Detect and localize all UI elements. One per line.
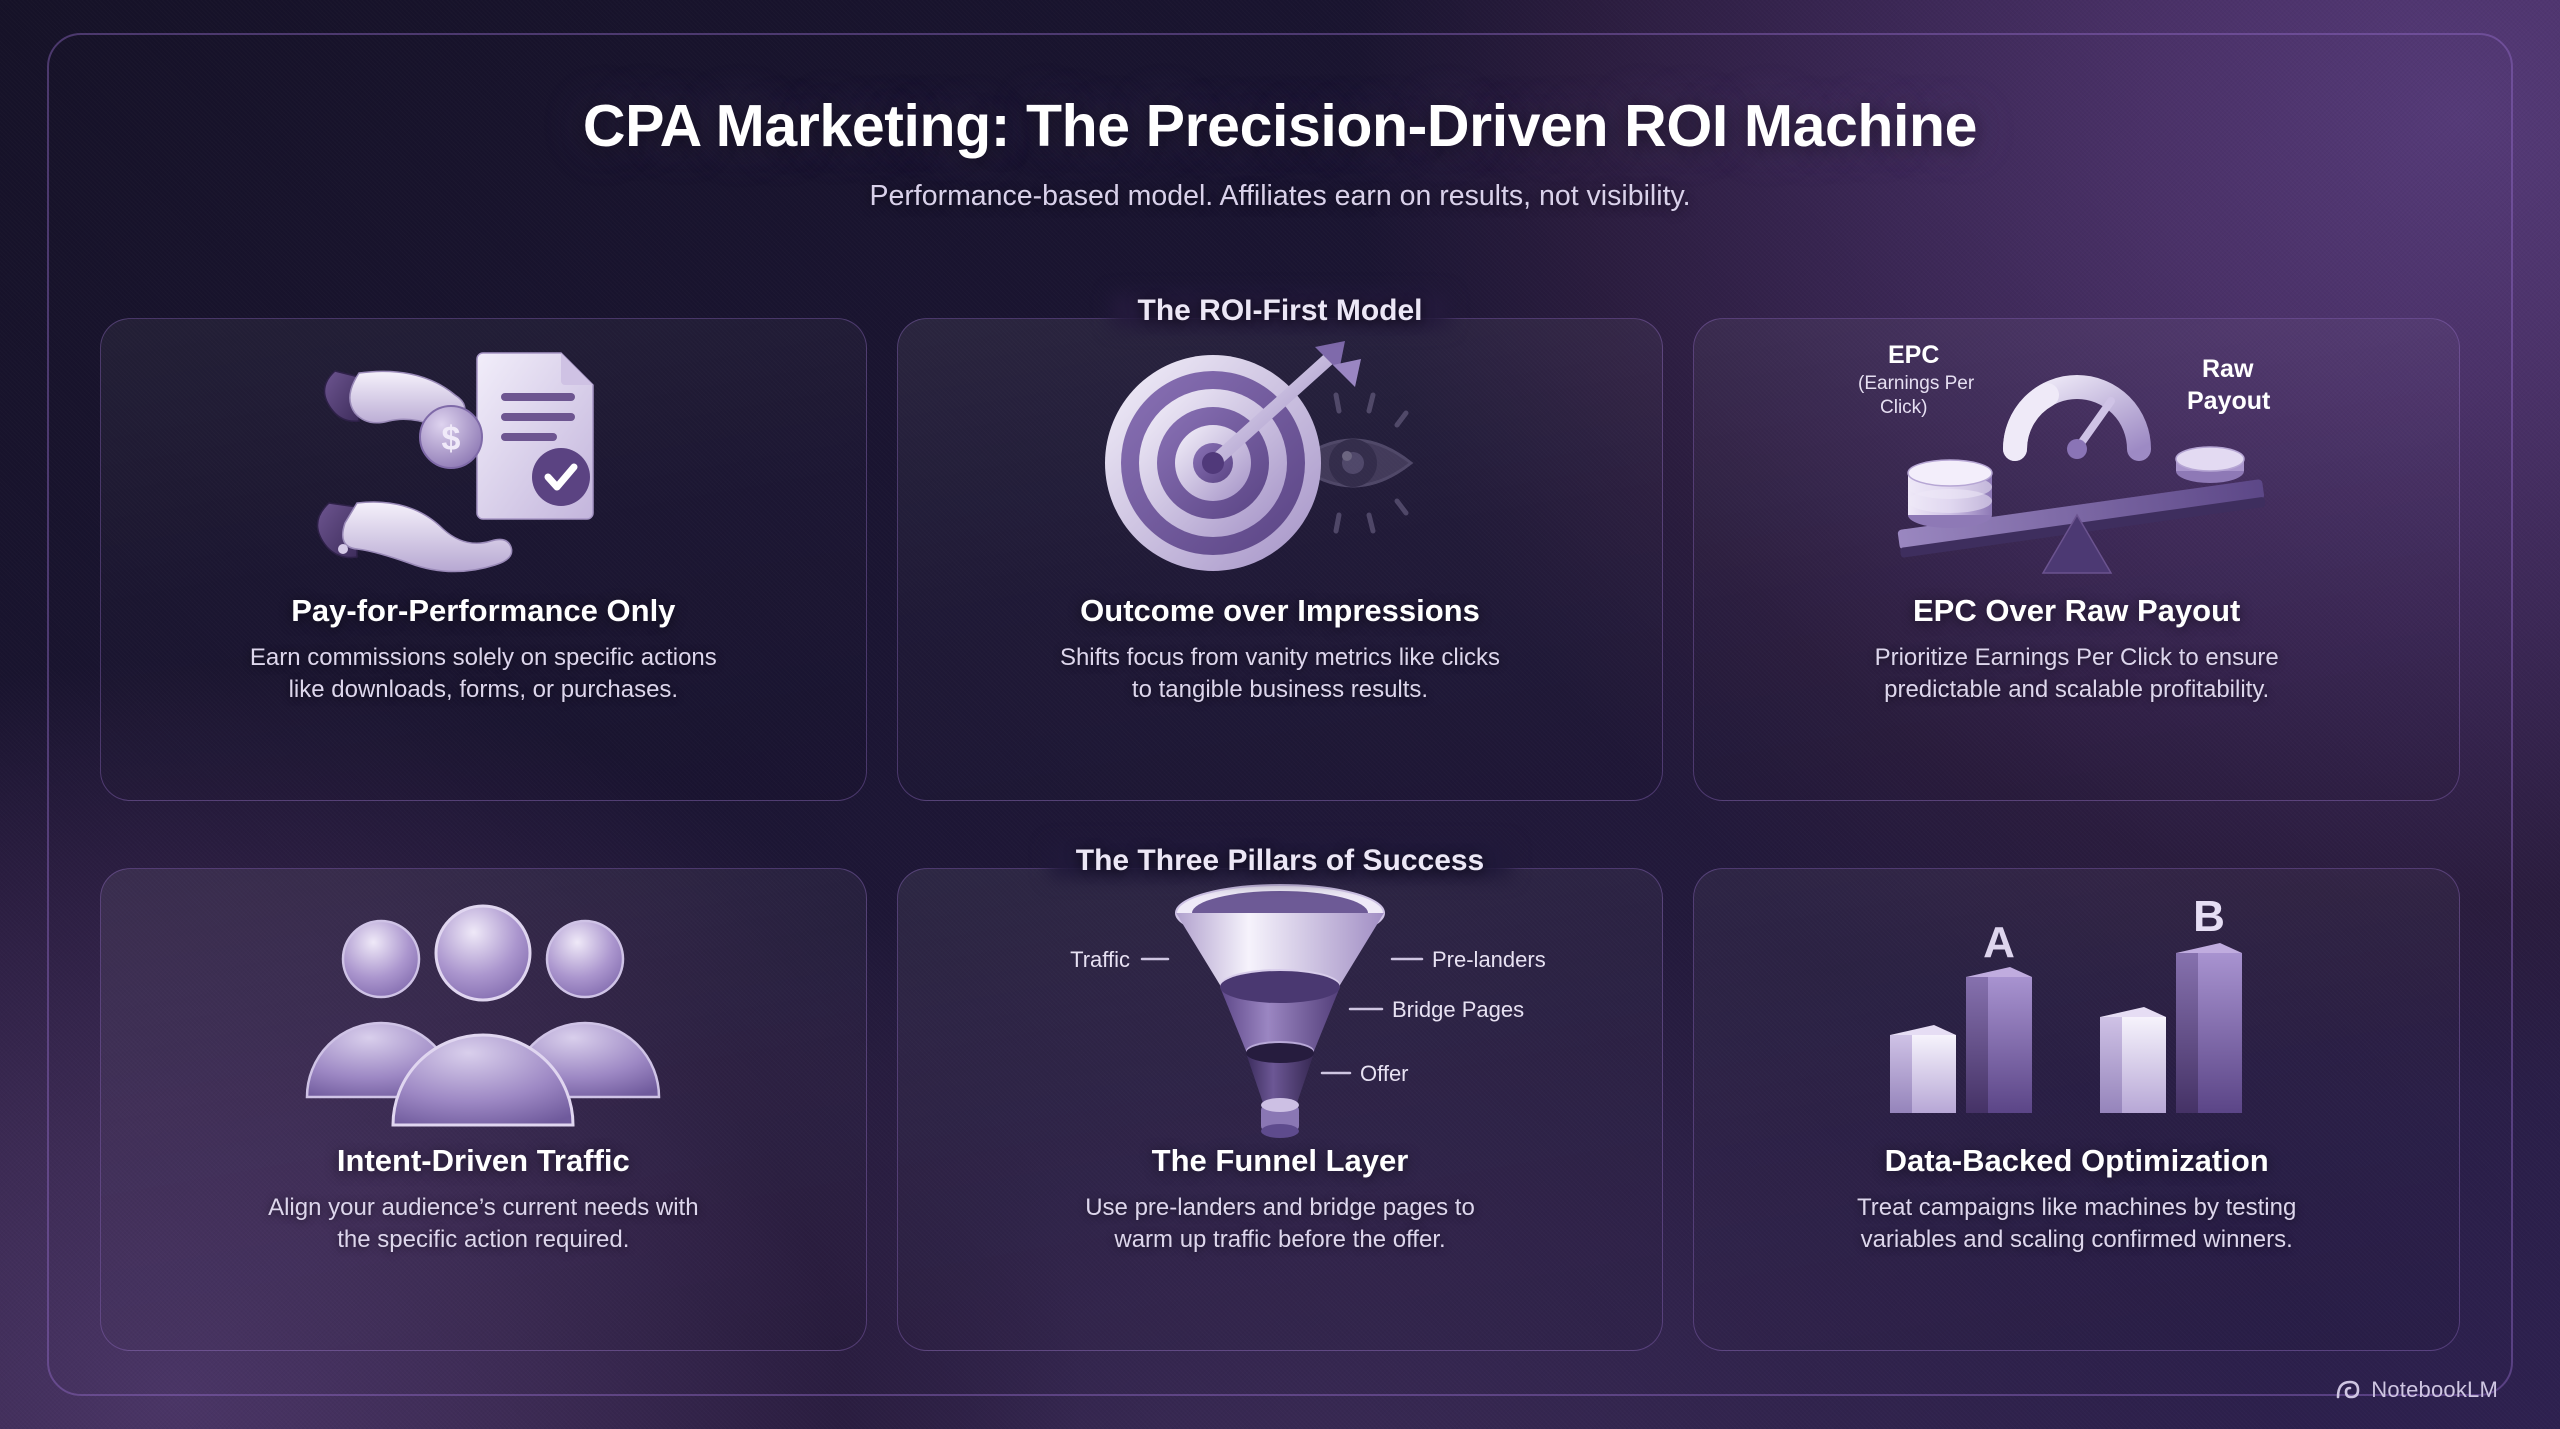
header: CPA Marketing: The Precision-Driven ROI … xyxy=(0,92,2560,213)
funnel-label-offer: Offer xyxy=(1360,1061,1409,1086)
notebooklm-spiral-icon xyxy=(2334,1376,2361,1403)
card-outcome-over-impressions[interactable]: The ROI-First Model xyxy=(897,318,1664,801)
funnel-label-traffic: Traffic xyxy=(1070,947,1130,972)
scale-right-label-1: Raw xyxy=(2202,355,2254,383)
bar-a-control xyxy=(1890,1025,1956,1113)
card-description: Treat campaigns like machines by testing… xyxy=(1857,1192,2296,1255)
bar-label-a: A xyxy=(1983,918,2015,967)
card-description: Prioritize Earnings Per Click to ensure … xyxy=(1875,642,2279,705)
svg-text:$: $ xyxy=(442,420,461,458)
card-description: Use pre-landers and bridge pages to warm… xyxy=(1085,1192,1475,1255)
card-desc-line2: to tangible business results. xyxy=(1060,674,1500,706)
target-arrow-eye-icon xyxy=(898,337,1663,587)
card-intent-driven-traffic[interactable]: Intent-Driven Traffic Align your audienc… xyxy=(100,868,867,1351)
card-title: EPC Over Raw Payout xyxy=(1913,593,2240,629)
section-roi-first-model: $ Pay-for-Performance Only Earn commissi… xyxy=(100,318,2460,801)
card-title: The Funnel Layer xyxy=(1152,1143,1409,1179)
card-desc-line2: variables and scaling confirmed winners. xyxy=(1857,1224,2296,1256)
card-desc-line1: Shifts focus from vanity metrics like cl… xyxy=(1060,642,1500,674)
card-desc-line1: Align your audience’s current needs with xyxy=(268,1192,698,1224)
funnel-icon: Traffic Pre-landers Bridge Pages Offer xyxy=(898,887,1663,1137)
bar-b-variant xyxy=(2176,943,2242,1113)
footer-brand: NotebookLM xyxy=(2334,1376,2498,1403)
hands-exchanging-coin-document-icon: $ xyxy=(101,337,866,587)
funnel-label-bridge-pages: Bridge Pages xyxy=(1392,997,1524,1022)
section-three-pillars: Intent-Driven Traffic Align your audienc… xyxy=(100,868,2460,1351)
page-title: CPA Marketing: The Precision-Driven ROI … xyxy=(0,92,2560,160)
scale-left-label: EPC xyxy=(1888,341,1939,369)
scale-left-sublabel-1: (Earnings Per xyxy=(1858,373,1975,394)
card-title: Pay-for-Performance Only xyxy=(291,593,675,629)
card-data-backed-optimization[interactable]: A B Data-Backed Optimiz xyxy=(1693,868,2460,1351)
bar-a-variant xyxy=(1966,967,2032,1113)
bar-label-b: B xyxy=(2193,892,2225,941)
card-desc-line2: like downloads, forms, or purchases. xyxy=(250,674,717,706)
card-desc-line1: Use pre-landers and bridge pages to xyxy=(1085,1192,1475,1224)
card-desc-line2: warm up traffic before the offer. xyxy=(1085,1224,1475,1256)
card-epc-over-raw-payout[interactable]: EPC (Earnings Per Click) Raw Payout xyxy=(1693,318,2460,801)
card-desc-line2: predictable and scalable profitability. xyxy=(1875,674,2279,706)
card-title: Data-Backed Optimization xyxy=(1885,1143,2269,1179)
card-desc-line1: Treat campaigns like machines by testing xyxy=(1857,1192,2296,1224)
card-the-funnel-layer[interactable]: The Three Pillars of Success xyxy=(897,868,1664,1351)
card-desc-line1: Earn commissions solely on specific acti… xyxy=(250,642,717,674)
card-pay-for-performance[interactable]: $ Pay-for-Performance Only Earn commissi… xyxy=(100,318,867,801)
section-header-roi-first-model: The ROI-First Model xyxy=(1112,294,1449,328)
card-description: Align your audience’s current needs with… xyxy=(268,1192,698,1255)
infographic-canvas: CPA Marketing: The Precision-Driven ROI … xyxy=(0,0,2560,1429)
card-title: Outcome over Impressions xyxy=(1080,593,1480,629)
page-subtitle: Performance-based model. Affiliates earn… xyxy=(0,180,2560,213)
card-desc-line2: the specific action required. xyxy=(268,1224,698,1256)
card-title: Intent-Driven Traffic xyxy=(337,1143,630,1179)
people-group-icon xyxy=(101,887,866,1137)
card-description: Earn commissions solely on specific acti… xyxy=(250,642,717,705)
footer-brand-label: NotebookLM xyxy=(2371,1377,2498,1403)
bar-b-control xyxy=(2100,1007,2166,1113)
ab-test-bar-chart-icon: A B xyxy=(1694,887,2459,1137)
card-desc-line1: Prioritize Earnings Per Click to ensure xyxy=(1875,642,2279,674)
card-description: Shifts focus from vanity metrics like cl… xyxy=(1060,642,1500,705)
scale-right-label-2: Payout xyxy=(2187,387,2271,415)
scale-left-sublabel-2: Click) xyxy=(1880,397,1928,418)
funnel-label-prelanders: Pre-landers xyxy=(1432,947,1546,972)
section-header-three-pillars: The Three Pillars of Success xyxy=(1050,844,1511,878)
balance-scale-gauge-icon: EPC (Earnings Per Click) Raw Payout xyxy=(1694,337,2459,587)
